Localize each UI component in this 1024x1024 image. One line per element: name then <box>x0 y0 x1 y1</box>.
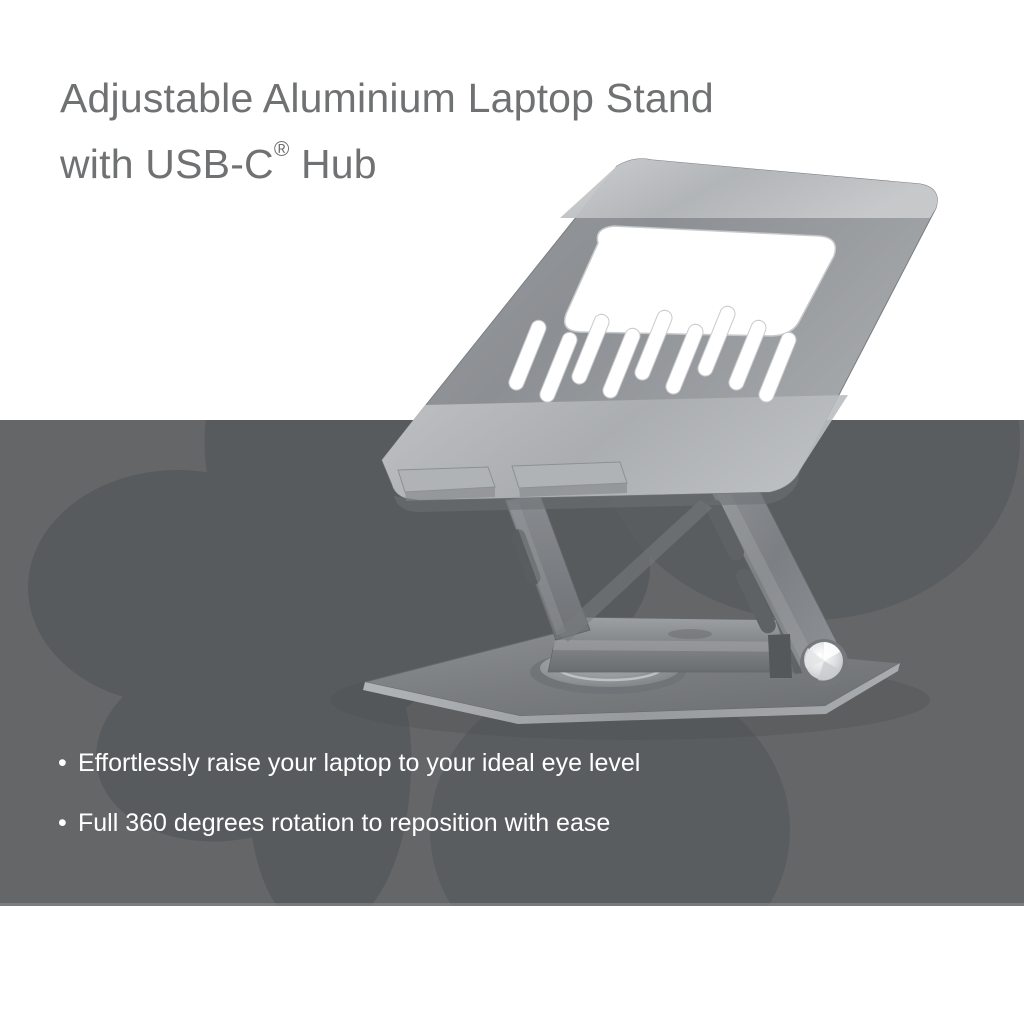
title-line-2-text: with USB-C <box>60 141 274 187</box>
vent-slot <box>538 330 580 404</box>
title-line-1: Adjustable Aluminium Laptop Stand <box>60 72 920 124</box>
bullet-text: Effortlessly raise your laptop to your i… <box>78 748 640 778</box>
vent-slot <box>696 304 738 378</box>
list-item: • Effortlessly raise your laptop to your… <box>58 748 838 778</box>
vent-slot <box>601 326 643 400</box>
feature-bullet-list: • Effortlessly raise your laptop to your… <box>58 748 838 868</box>
vent-slot <box>507 318 549 392</box>
vent-slot <box>727 318 769 392</box>
vent-slot <box>757 330 799 404</box>
bullet-text: Full 360 degrees rotation to reposition … <box>78 808 610 838</box>
product-banner: Adjustable Aluminium Laptop Stand with U… <box>0 0 1024 1024</box>
bullet-marker-icon: • <box>58 808 78 838</box>
ventilation-slots <box>507 304 799 404</box>
watermark-petal-upper-right <box>600 420 1020 620</box>
watermark-petal-core <box>290 570 440 720</box>
title-line-2: with USB-C® Hub <box>60 124 920 190</box>
handle-cutout <box>565 226 836 336</box>
title-line-2-suffix: Hub <box>289 141 376 187</box>
registered-trademark-icon: ® <box>274 138 289 161</box>
bullet-marker-icon: • <box>58 748 78 778</box>
vent-slot <box>570 312 612 386</box>
vent-slot <box>633 308 675 382</box>
page-title: Adjustable Aluminium Laptop Stand with U… <box>60 72 920 190</box>
list-item: • Full 360 degrees rotation to repositio… <box>58 808 838 838</box>
vent-slot <box>664 322 706 396</box>
